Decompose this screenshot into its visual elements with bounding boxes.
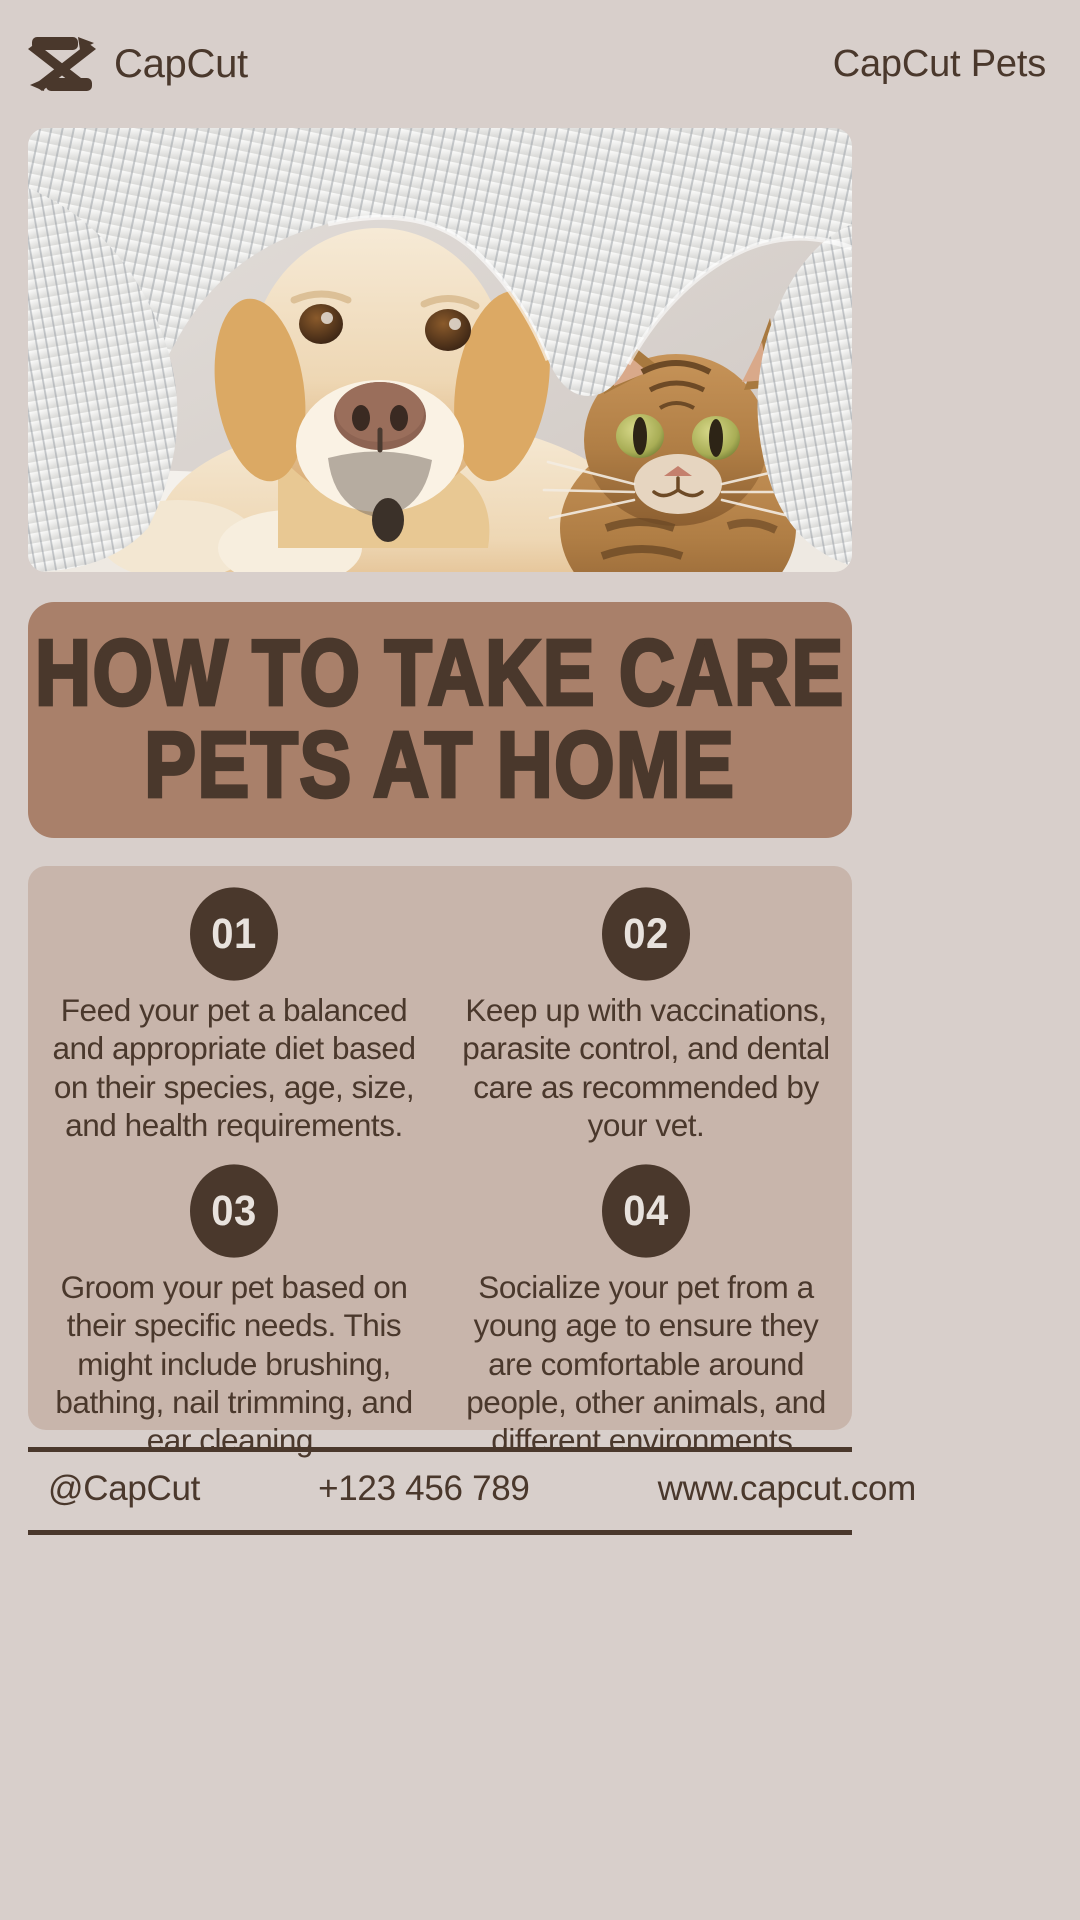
page-header: CapCut CapCut Pets bbox=[0, 0, 1080, 128]
tip-text: Keep up with vaccinations, parasite cont… bbox=[452, 991, 840, 1145]
hero-photo bbox=[28, 128, 852, 572]
tip-number-badge: 03 bbox=[190, 1164, 278, 1257]
tip-card-02: 02 Keep up with vaccinations, parasite c… bbox=[440, 866, 852, 1145]
footer-divider-bottom bbox=[28, 1530, 852, 1535]
tip-number-badge: 01 bbox=[190, 887, 278, 980]
tip-text: Groom your pet based on their specific n… bbox=[40, 1268, 428, 1460]
footer-website[interactable]: www.capcut.com bbox=[658, 1469, 916, 1509]
tip-text: Socialize your pet from a young age to e… bbox=[452, 1268, 840, 1460]
page-title-line-2: PETS AT HOME bbox=[144, 721, 735, 812]
page-title-line-1: HOW TO TAKE CARE bbox=[35, 628, 845, 719]
page-footer: @CapCut +123 456 789 www.capcut.com bbox=[28, 1447, 852, 1530]
tip-card-03: 03 Groom your pet based on their specifi… bbox=[28, 1145, 440, 1460]
tips-panel: 01 Feed your pet a balanced and appropri… bbox=[28, 866, 852, 1430]
footer-phone[interactable]: +123 456 789 bbox=[318, 1469, 529, 1509]
title-banner: HOW TO TAKE CARE PETS AT HOME bbox=[28, 602, 852, 838]
tip-number-badge: 04 bbox=[602, 1164, 690, 1257]
tip-number-badge: 02 bbox=[602, 887, 690, 980]
brand-name: CapCut bbox=[114, 42, 248, 87]
tip-text: Feed your pet a balanced and appropriate… bbox=[40, 991, 428, 1145]
tip-card-01: 01 Feed your pet a balanced and appropri… bbox=[28, 866, 440, 1145]
tip-card-04: 04 Socialize your pet from a young age t… bbox=[440, 1145, 852, 1460]
capcut-hourglass-icon bbox=[28, 35, 96, 93]
footer-handle[interactable]: @CapCut bbox=[48, 1469, 200, 1509]
header-right-label: CapCut Pets bbox=[833, 43, 1046, 86]
brand-lockup[interactable]: CapCut bbox=[28, 35, 248, 93]
